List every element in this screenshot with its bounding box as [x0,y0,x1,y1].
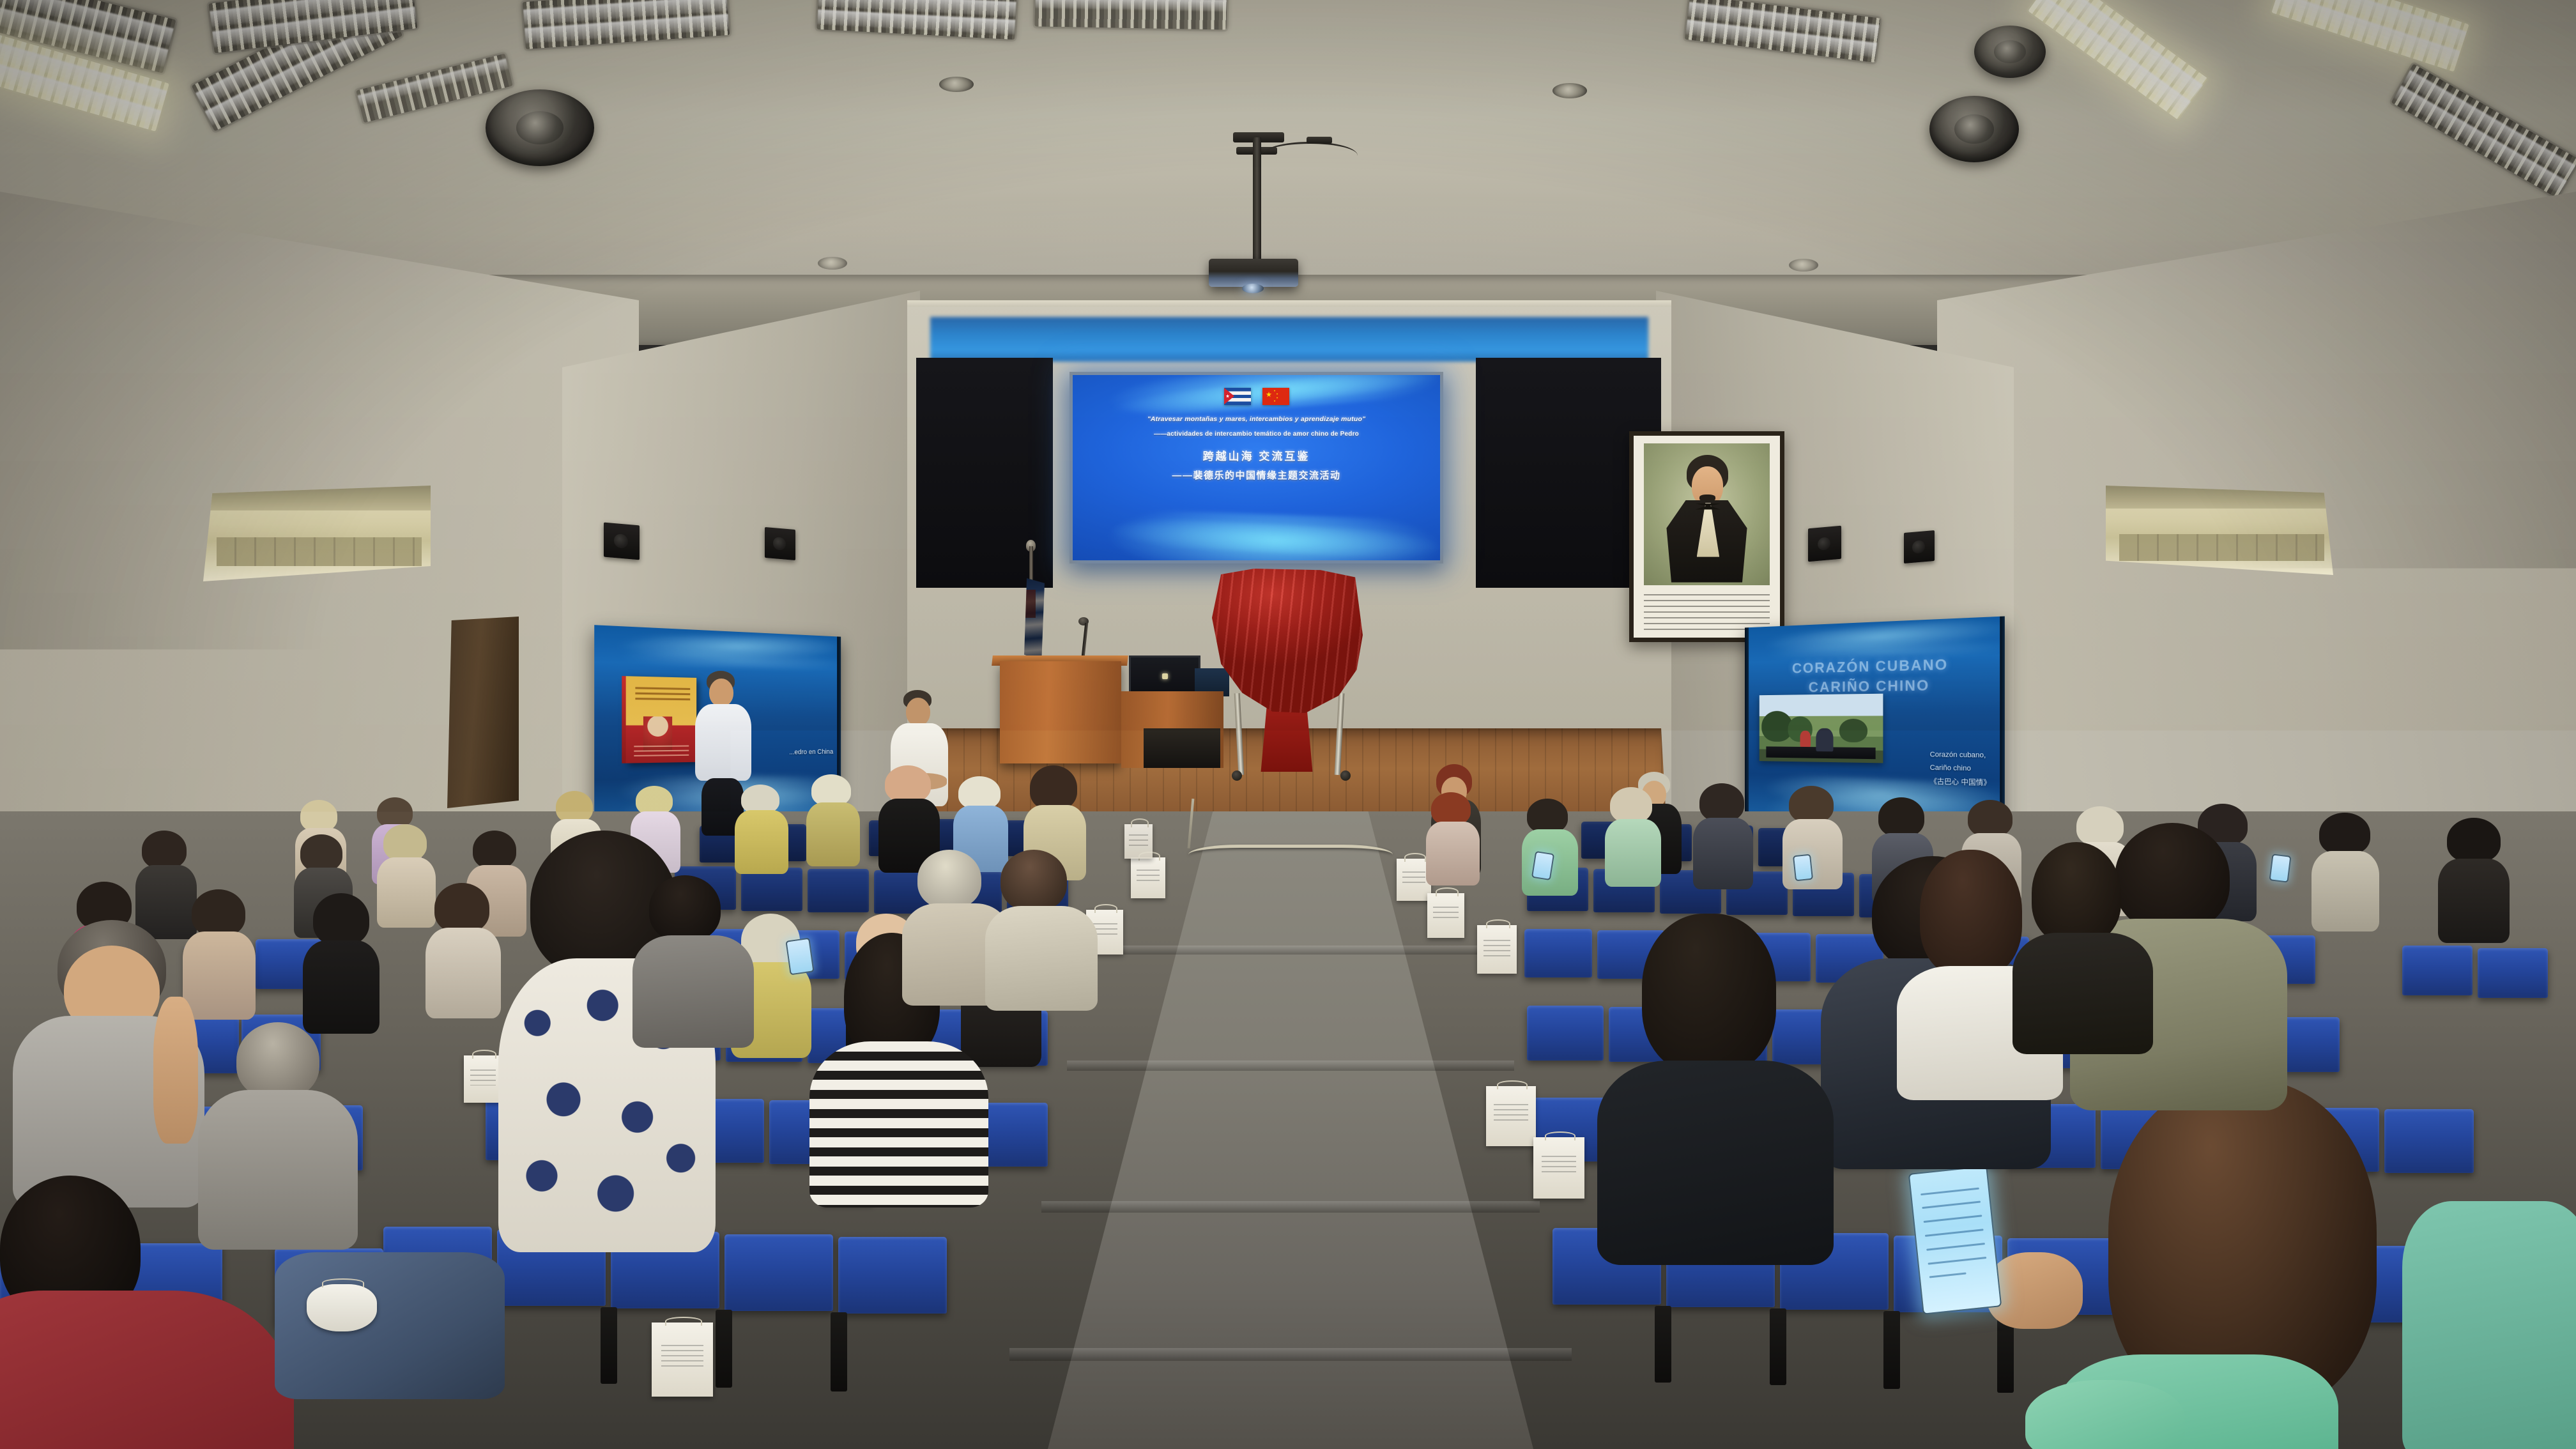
seat-armrest [1770,1308,1786,1385]
hair [1699,783,1744,822]
projection-screen: "Atravesar montañas y mares, intercambio… [1073,375,1440,560]
banner-right-sub-line1: Corazón cubano, [1930,748,1991,762]
seat[interactable] [724,1234,833,1311]
head [709,678,733,707]
torso [1426,822,1480,885]
ceiling-dome-diffuser [1929,96,2019,162]
hair [1878,797,1924,837]
aisle-step [1009,1348,1572,1361]
hair [1920,850,2022,977]
face-mask [307,1284,377,1331]
torso [198,1090,358,1250]
torso [303,940,379,1034]
torso [377,857,436,928]
cuba-flag-icon [1224,388,1251,405]
hair [1030,765,1077,810]
torso [695,704,751,781]
slide-chinese-subtitle: ——裴德乐的中国情缘主题交流活动 [1073,468,1440,482]
seat[interactable] [741,868,802,911]
banner-right-sub-line3: 《古巴心 中国情》 [1930,775,1991,790]
projector-cable-anchor [1307,137,1332,144]
arm [2025,1380,2185,1449]
hair [885,765,931,802]
aisle-step [1086,946,1495,954]
slide-chinese-title: 跨越山海 交流互鉴 [1073,447,1440,463]
hair [811,774,851,806]
projector [1209,259,1298,287]
gift-bag[interactable] [1533,1137,1584,1199]
hair [142,831,187,869]
framed-portrait [1629,431,1784,642]
hair [1793,894,1862,957]
torso [632,935,754,1048]
hair [1549,861,1626,931]
portrait-plaque-text [1644,594,1770,631]
gift-bag[interactable] [1124,824,1153,859]
seat[interactable] [2478,948,2548,998]
laptop-screen[interactable] [1129,655,1200,695]
torso [2311,851,2379,931]
hair [556,791,593,823]
banner-right-sub-line2: Cariño chino [1930,762,1991,776]
hair [1000,850,1067,911]
side-exit-door[interactable] [447,617,519,808]
torso [2438,859,2510,943]
torso [2402,1201,2576,1449]
ceiling-downlight [818,257,847,270]
head [906,698,930,726]
wall-speaker [1808,526,1841,562]
hair [2032,842,2121,944]
hair [377,797,413,828]
torso [806,802,860,866]
torso [1782,819,1843,889]
wall-speaker [1904,530,1935,563]
slide-spanish-title: "Atravesar montañas y mares, intercambio… [1073,415,1440,423]
easel-caster [1340,770,1351,781]
hair [2076,806,2124,846]
hair [1610,787,1652,823]
banner-right-subtitle: Corazón cubano, Cariño chino 《古巴心 中国情》 [1930,748,1991,790]
china-flag-icon [1262,388,1289,405]
gift-bag[interactable] [652,1322,713,1397]
hair [917,850,981,908]
hair [1527,799,1568,833]
projector-lens [1242,284,1264,293]
torso [135,865,197,939]
gift-bag[interactable] [1477,925,1517,974]
torso [1517,924,1677,1071]
hand [1987,1252,2083,1329]
torso [735,810,788,874]
av-cabinet-shelf [1144,728,1220,768]
wall-speaker [604,523,640,560]
podium [1000,661,1121,763]
hair [2447,818,2501,862]
aisle-step [1041,1201,1540,1213]
torso [183,931,256,1020]
banner-right-headline: CORAZÓN CUBANO CARIÑO CHINO [1745,653,2005,698]
torso [1693,818,1753,889]
air-conditioner-unit [203,486,431,581]
legs [275,1252,505,1399]
slide-spanish-subtitle: ——actividades de intercambio temático de… [1073,431,1440,438]
easel-caster [1232,770,1242,781]
ceiling-dome-diffuser [1974,26,2046,78]
hair [313,893,369,946]
projection-screen-frame: "Atravesar montañas y mares, intercambio… [1069,372,1443,563]
smartphone[interactable] [2271,855,2290,882]
ceiling-downlight [1789,259,1818,272]
hair [434,883,489,933]
raised-arm [153,997,198,1144]
torso [1597,1061,1834,1265]
seat-armrest [1883,1311,1900,1389]
hair [473,831,516,869]
hair [1699,885,1770,949]
seat-armrest [1655,1306,1671,1383]
proscenium-light-wash [930,317,1648,362]
hair [300,834,342,871]
aisle-step [1067,1061,1514,1071]
gift-bag[interactable] [1486,1086,1536,1146]
hair [236,1022,319,1099]
seat[interactable] [2384,1109,2474,1173]
gift-bag[interactable] [464,1055,502,1103]
seat[interactable] [2402,946,2472,995]
smartphone[interactable] [787,939,813,974]
ceiling-light-troffer [1035,0,1227,30]
torso [985,906,1098,1011]
gift-bag[interactable] [1131,857,1165,898]
banner-right-photo [1759,694,1883,763]
auditorium-photo: "Atravesar montañas y mares, intercambio… [0,0,2576,1449]
seat[interactable] [838,1237,947,1314]
wall-speaker [765,527,795,560]
hair [1431,792,1471,825]
torso [2012,933,2153,1054]
hair [958,776,1000,809]
hair [2319,813,2370,855]
seat[interactable] [808,869,869,912]
banner-left-caption: ...edro en China [789,746,833,758]
torso [809,1041,988,1207]
hair [300,800,337,832]
hair [192,889,245,937]
smartphone[interactable] [1910,1167,2000,1313]
seat-armrest [601,1307,617,1384]
banner-book-cover [626,676,697,763]
projector-mount-pole [1253,137,1261,265]
seat-armrest [716,1310,732,1388]
hair [1968,800,2012,837]
rope-barrier [1188,845,1393,864]
seat-armrest [831,1312,847,1391]
ceiling-dome-diffuser [486,89,594,166]
portrait-painting [1644,443,1770,585]
hair [2115,823,2230,931]
torso [425,928,501,1018]
torso [1776,951,1896,1058]
hair [383,824,427,861]
projector-cable [1262,142,1358,169]
ceiling-downlight [1552,83,1587,98]
ceiling-downlight [939,77,974,92]
air-conditioner-unit [2106,486,2333,575]
smartphone[interactable] [1794,855,1812,880]
hair [1789,786,1834,823]
gift-bag[interactable] [1427,893,1464,938]
hair [649,875,721,942]
banner-right: CORAZÓN CUBANO CARIÑO CHINO Corazón cuba… [1745,617,2005,832]
